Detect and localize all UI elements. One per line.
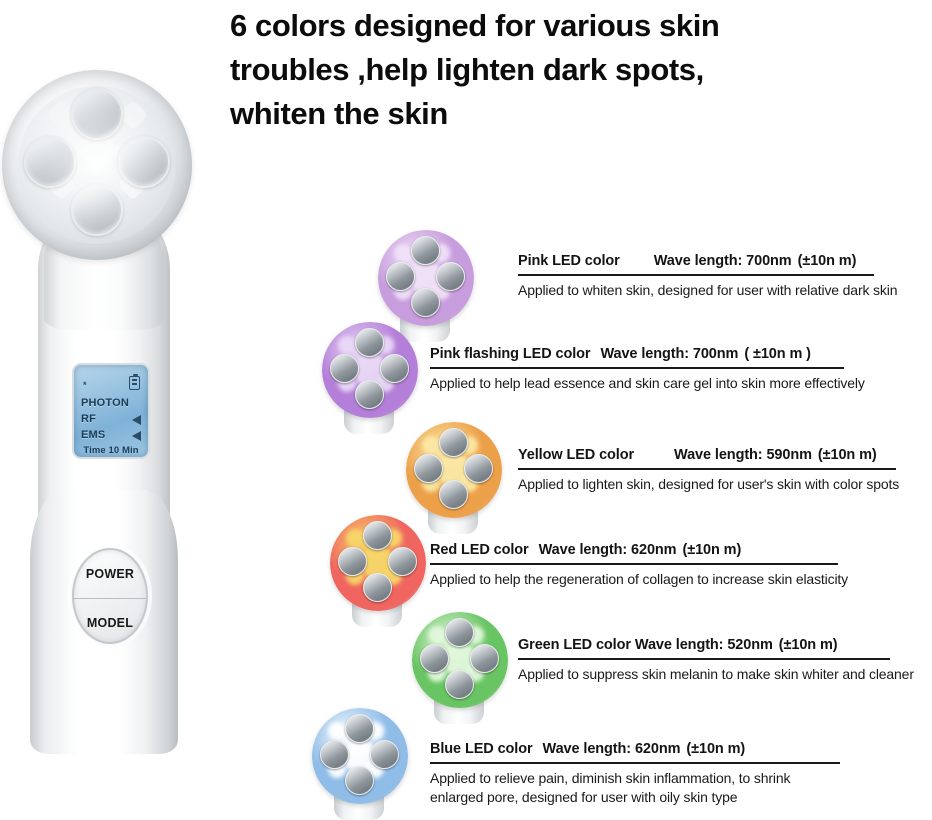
led-electrode-2 — [338, 547, 367, 576]
led-head-1 — [378, 230, 474, 326]
led-electrode-3 — [388, 547, 417, 576]
led-electrode-3 — [370, 740, 399, 769]
led-electrode-3 — [380, 354, 409, 383]
led-glow — [346, 529, 364, 547]
led-electrode-2 — [386, 262, 415, 291]
lcd-ems-level-icon — [132, 431, 141, 441]
led-entry-title: Red LED colorWave length: 620nm(±10n m) — [430, 542, 848, 563]
led-head-disc — [330, 515, 426, 611]
led-entry-title: Pink LED colorWave length: 700nm(±10n m) — [518, 253, 897, 274]
led-head-disc — [406, 422, 502, 518]
lcd-rf-label: RF — [81, 413, 96, 425]
led-electrode-2 — [420, 644, 449, 673]
led-electrode-1 — [445, 618, 474, 647]
electrode-left — [24, 136, 76, 188]
led-entry-description: Applied to suppress skin melanin to make… — [518, 665, 914, 684]
led-electrode-1 — [355, 328, 384, 357]
led-entry-2: Pink flashing LED colorWave length: 700n… — [430, 346, 865, 393]
led-electrode-2 — [330, 354, 359, 383]
led-head-disc — [322, 322, 418, 418]
led-entry-3: Yellow LED colorWave length: 590nm(±10n … — [518, 447, 899, 494]
led-entry-divider — [430, 563, 838, 565]
led-glow — [338, 336, 356, 354]
led-entry-1: Pink LED colorWave length: 700nm(±10n m)… — [518, 253, 897, 300]
led-head-4 — [330, 515, 426, 611]
led-entry-divider — [518, 468, 896, 470]
led-wavelength-tolerance: (±10n m) — [682, 542, 741, 558]
led-entry-divider — [430, 367, 844, 369]
led-entry-description: Applied to help the regeneration of coll… — [430, 570, 848, 589]
led-entry-5: Green LED colorWave length: 520nm(±10n m… — [518, 637, 914, 684]
led-entry-title: Green LED colorWave length: 520nm(±10n m… — [518, 637, 914, 658]
led-electrode-4 — [411, 288, 440, 317]
led-wavelength: Wave length: 620nm — [539, 542, 677, 558]
headline-line-3: whiten the skin — [230, 92, 930, 136]
led-wavelength-tolerance: (±10n m) — [779, 637, 838, 653]
electrode-right — [118, 136, 170, 188]
page-title: 6 colors designed for various skin troub… — [230, 4, 930, 136]
device-illustration: * PHOTON RF EMS Time 10 Min POWER MODEL — [0, 60, 215, 760]
led-entry-description: Applied to whiten skin, designed for use… — [518, 281, 897, 300]
lcd-star-icon: * — [83, 381, 87, 390]
led-head-5 — [412, 612, 508, 708]
led-wavelength-tolerance: (±10n m) — [818, 447, 877, 463]
power-button[interactable]: POWER — [74, 550, 146, 598]
led-color-name: Pink LED color — [518, 253, 620, 269]
led-wavelength: Wave length: 700nm — [654, 253, 792, 269]
led-electrode-4 — [363, 573, 392, 602]
led-entry-description: Applied to lighten skin, designed for us… — [518, 475, 899, 494]
led-wavelength: Wave length: 590nm — [674, 447, 812, 463]
lcd-photon-label: PHOTON — [81, 397, 129, 409]
battery-icon — [129, 376, 140, 390]
led-glow — [428, 626, 446, 644]
led-wavelength: Wave length: 700nm — [600, 346, 738, 362]
led-electrode-3 — [436, 262, 465, 291]
led-entry-description: enlarged pore, designed for user with oi… — [430, 788, 840, 807]
model-button[interactable]: MODEL — [74, 598, 146, 647]
led-entry-divider — [518, 658, 890, 660]
led-electrode-3 — [470, 644, 499, 673]
led-head-disc — [312, 708, 408, 804]
led-color-name: Red LED color — [430, 542, 529, 558]
led-wavelength: Wave length: 520nm — [635, 637, 773, 653]
led-entry-divider — [430, 762, 840, 764]
led-entry-4: Red LED colorWave length: 620nm(±10n m)A… — [430, 542, 848, 589]
device-lcd-screen: * PHOTON RF EMS Time 10 Min — [72, 363, 150, 459]
led-color-name: Blue LED color — [430, 741, 533, 757]
device-button-group: POWER MODEL — [72, 548, 148, 644]
led-entry-title: Blue LED colorWave length: 620nm(±10n m) — [430, 741, 840, 762]
led-electrode-4 — [345, 766, 374, 795]
led-entry-description: Applied to help lead essence and skin ca… — [430, 374, 865, 393]
led-entry-6: Blue LED colorWave length: 620nm(±10n m)… — [430, 741, 840, 807]
led-electrode-1 — [363, 521, 392, 550]
led-wavelength-tolerance: (±10n m) — [686, 741, 745, 757]
led-glow — [394, 244, 412, 262]
led-entry-description: Applied to relieve pain, diminish skin i… — [430, 769, 840, 788]
led-glow — [422, 436, 440, 454]
led-electrode-4 — [439, 480, 468, 509]
led-head-disc — [412, 612, 508, 708]
led-wavelength-tolerance: ( ±10n m ) — [744, 346, 811, 362]
electrode-bottom — [71, 184, 123, 236]
led-electrode-1 — [345, 714, 374, 743]
led-entry-title: Pink flashing LED colorWave length: 700n… — [430, 346, 865, 367]
headline-line-1: 6 colors designed for various skin — [230, 4, 930, 48]
device-treatment-head — [2, 70, 192, 260]
led-head-6 — [312, 708, 408, 804]
led-entry-title: Yellow LED colorWave length: 590nm(±10n … — [518, 447, 899, 468]
lcd-rf-level-icon — [132, 415, 141, 425]
led-glow — [328, 722, 346, 740]
led-electrode-3 — [464, 454, 493, 483]
led-entry-divider — [518, 274, 874, 276]
lcd-timer-label: Time 10 Min — [74, 445, 148, 456]
led-color-name: Yellow LED color — [518, 447, 634, 463]
led-head-disc — [378, 230, 474, 326]
led-electrode-1 — [411, 236, 440, 265]
led-head-2 — [322, 322, 418, 418]
electrode-top — [71, 88, 123, 140]
led-color-name: Green LED color — [518, 637, 631, 653]
headline-line-2: troubles ,help lighten dark spots, — [230, 48, 930, 92]
led-electrode-2 — [320, 740, 349, 769]
led-wavelength: Wave length: 620nm — [543, 741, 681, 757]
led-wavelength-tolerance: (±10n m) — [798, 253, 857, 269]
led-electrode-2 — [414, 454, 443, 483]
led-color-name: Pink flashing LED color — [430, 346, 590, 362]
lcd-ems-label: EMS — [81, 429, 105, 441]
led-electrode-4 — [445, 670, 474, 699]
led-head-3 — [406, 422, 502, 518]
led-electrode-1 — [439, 428, 468, 457]
led-electrode-4 — [355, 380, 384, 409]
